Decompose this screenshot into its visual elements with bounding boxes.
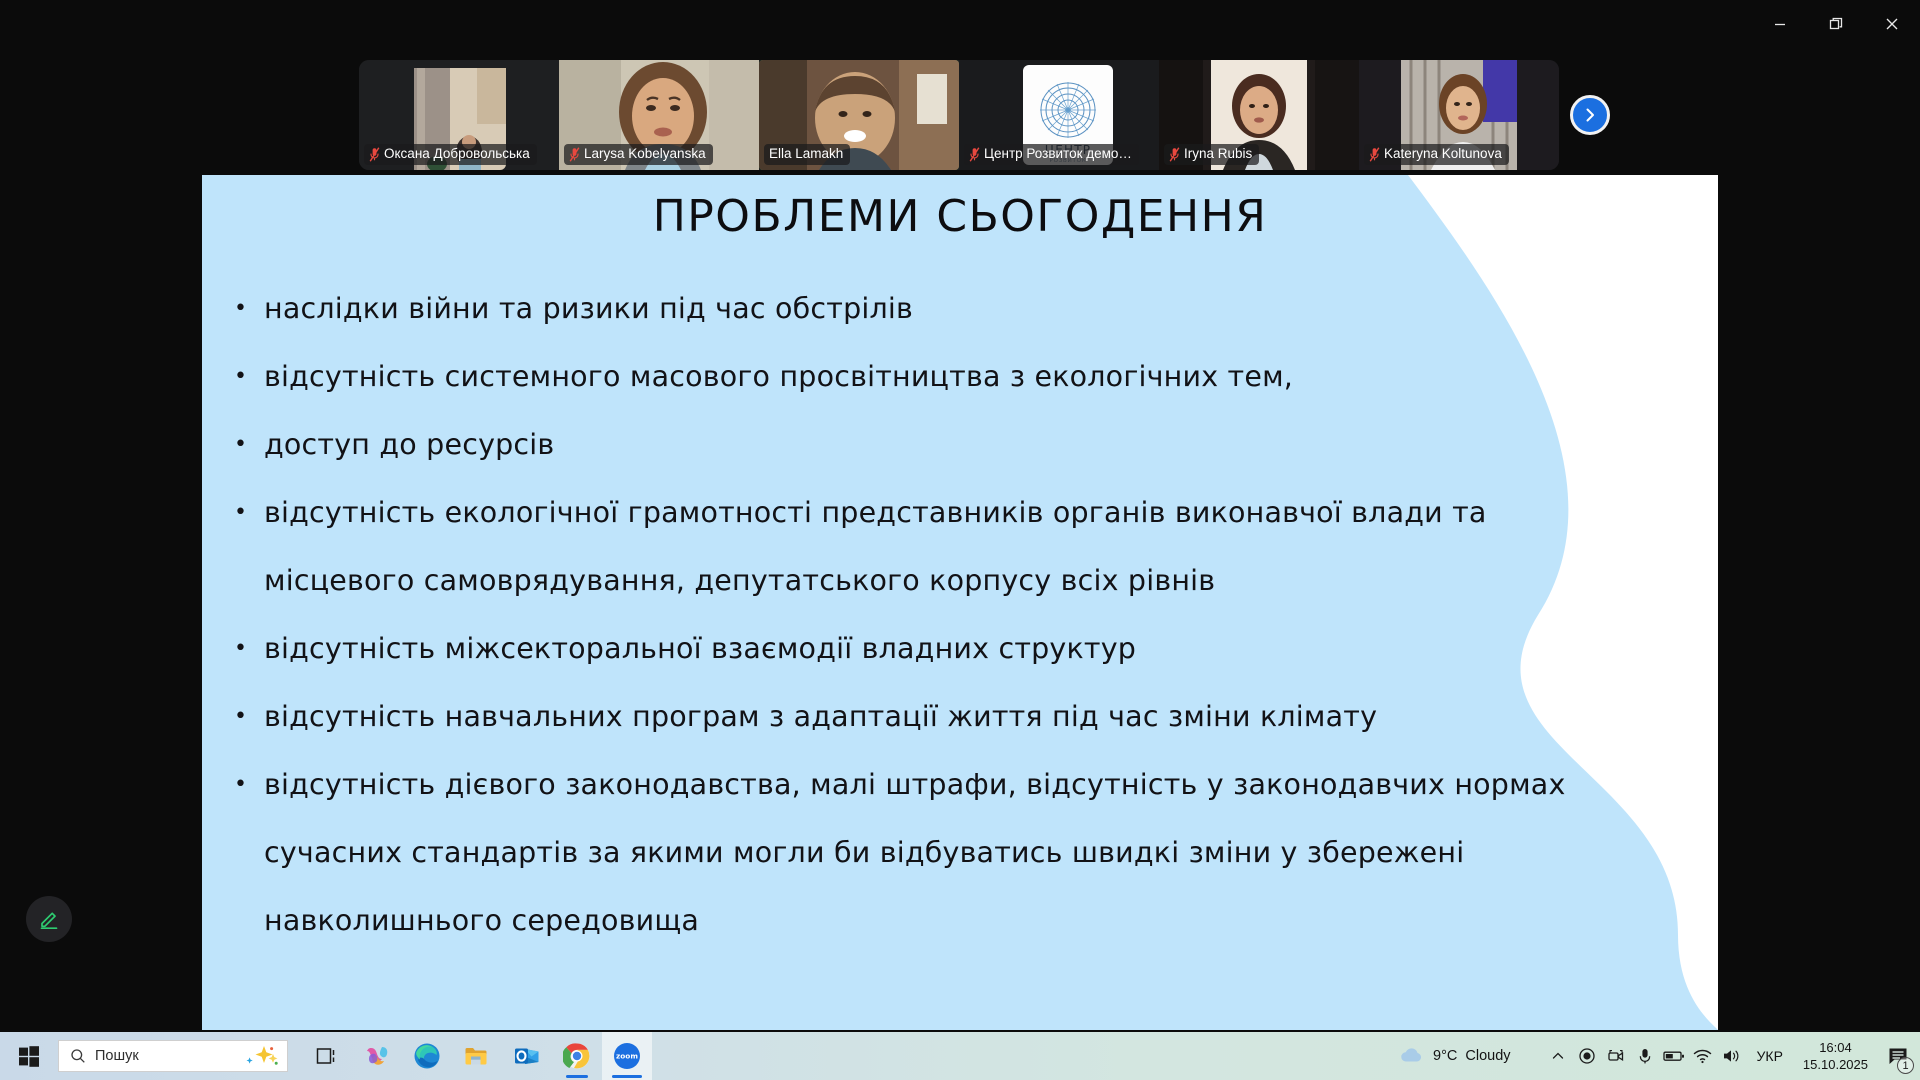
slide-bullet: відсутність міжсекторальної взаємодії вл… <box>212 615 1632 683</box>
participant-tile[interactable]: ЦЕНТР РОЗВИТОК Центр Розвиток демо… <box>959 60 1159 170</box>
start-button[interactable] <box>0 1045 58 1067</box>
mic-off-icon <box>369 147 380 162</box>
chevron-right-icon <box>1582 107 1598 123</box>
weather-temperature: 9°C <box>1433 1048 1457 1064</box>
weather-condition: Cloudy <box>1465 1048 1510 1064</box>
record-icon <box>1578 1047 1596 1065</box>
camera-icon <box>1607 1047 1625 1065</box>
next-participants-button[interactable] <box>1570 95 1610 135</box>
camera-indicator[interactable] <box>1603 1038 1629 1074</box>
folder-icon <box>463 1042 491 1070</box>
participant-name-badge: Ella Lamakh <box>764 144 850 165</box>
participant-tile[interactable]: Kateryna Koltunova <box>1359 60 1559 170</box>
show-hidden-icons-button[interactable] <box>1545 1038 1571 1074</box>
battery-indicator[interactable] <box>1661 1038 1687 1074</box>
edge-button[interactable] <box>402 1032 452 1080</box>
participant-name-badge: Оксана Добровольська <box>364 144 537 165</box>
slide-title: ПРОБЛЕМИ СЬОГОДЕННЯ <box>202 191 1718 242</box>
participant-tile[interactable]: Larysa Kobelyanska <box>559 60 759 170</box>
participant-filmstrip: Оксана Добровольська <box>359 60 1559 170</box>
taskbar: Пошук <box>0 1032 1920 1080</box>
chrome-icon <box>563 1042 591 1070</box>
slide-bullet-list: наслідки війни та ризики під час обстріл… <box>212 275 1718 955</box>
outlook-button[interactable] <box>502 1032 552 1080</box>
participant-name: Kateryna Koltunova <box>1384 146 1502 162</box>
participant-name-badge: Центр Розвиток демо… <box>964 144 1139 165</box>
participant-name-badge: Kateryna Koltunova <box>1364 144 1509 165</box>
pencil-icon <box>37 907 61 931</box>
copilot-sparkle-icon <box>245 1045 279 1067</box>
minimize-button[interactable] <box>1752 4 1808 44</box>
microphone-indicator[interactable] <box>1632 1038 1658 1074</box>
participant-tile-active[interactable]: Ella Lamakh <box>759 60 959 170</box>
wifi-indicator[interactable] <box>1690 1038 1716 1074</box>
slide-bullet: відсутність екологічної грамотності пред… <box>212 479 1632 615</box>
chrome-button[interactable] <box>552 1032 602 1080</box>
participant-name: Larysa Kobelyanska <box>584 146 706 162</box>
slide-bullet: відсутність системного масового просвітн… <box>212 343 1632 411</box>
volume-indicator[interactable] <box>1719 1038 1745 1074</box>
participant-name: Iryna Rubis <box>1184 146 1252 162</box>
mic-off-icon <box>969 147 980 162</box>
restore-button[interactable] <box>1808 4 1864 44</box>
weather-widget[interactable]: 9°C Cloudy <box>1387 1047 1522 1065</box>
slide-bullet: відсутність дієвого законодавства, малі … <box>212 751 1632 955</box>
clock-date: 15.10.2025 <box>1803 1056 1868 1073</box>
battery-icon <box>1663 1049 1685 1063</box>
close-button[interactable] <box>1864 4 1920 44</box>
clock-time: 16:04 <box>1803 1039 1868 1056</box>
cloud-icon <box>1399 1047 1425 1065</box>
mic-off-icon <box>1169 147 1180 162</box>
svg-text:zoom: zoom <box>616 1052 638 1061</box>
participant-tile[interactable]: Оксана Добровольська <box>359 60 559 170</box>
participant-tile[interactable]: Iryna Rubis <box>1159 60 1359 170</box>
participant-name-badge: Larysa Kobelyanska <box>564 144 713 165</box>
clock[interactable]: 16:04 15.10.2025 <box>1795 1039 1876 1073</box>
file-explorer-button[interactable] <box>452 1032 502 1080</box>
copilot-button[interactable] <box>352 1032 402 1080</box>
tray-icons <box>1545 1038 1745 1074</box>
search-placeholder: Пошук <box>95 1048 236 1064</box>
search-input[interactable]: Пошук <box>58 1040 288 1072</box>
search-icon <box>70 1048 86 1064</box>
chevron-up-icon <box>1551 1049 1565 1063</box>
language-indicator[interactable]: УКР <box>1745 1048 1795 1064</box>
taskbar-app-icons: zoom <box>302 1032 652 1080</box>
copilot-icon <box>363 1042 391 1070</box>
participant-name: Оксана Добровольська <box>384 146 530 162</box>
mic-off-icon <box>569 147 580 162</box>
desktop: Оксана Добровольська <box>0 0 1920 1080</box>
task-view-icon <box>315 1044 339 1068</box>
participant-name: Ella Lamakh <box>769 146 843 162</box>
zoom-button[interactable]: zoom <box>602 1032 652 1080</box>
annotate-button[interactable] <box>26 896 72 942</box>
mic-off-icon <box>1369 147 1380 162</box>
edge-icon <box>413 1042 441 1070</box>
participant-name-badge: Iryna Rubis <box>1164 144 1259 165</box>
notification-button[interactable]: 1 <box>1876 1032 1920 1080</box>
presentation-slide: ПРОБЛЕМИ СЬОГОДЕННЯ наслідки війни та ри… <box>202 175 1718 1030</box>
slide-bullet: доступ до ресурсів <box>212 411 1632 479</box>
slide-bullet: наслідки війни та ризики під час обстріл… <box>212 275 1632 343</box>
windows-logo-icon <box>18 1045 40 1067</box>
window-controls <box>1752 0 1920 48</box>
slide-bullet: відсутність навчальних програм з адаптац… <box>212 683 1632 751</box>
notification-count: 1 <box>1897 1057 1914 1074</box>
task-view-button[interactable] <box>302 1032 352 1080</box>
system-tray: 9°C Cloudy <box>1387 1032 1920 1080</box>
zoom-icon: zoom <box>612 1041 642 1071</box>
speaker-icon <box>1722 1048 1742 1064</box>
recording-indicator[interactable] <box>1574 1038 1600 1074</box>
participant-name: Центр Розвиток демо… <box>984 146 1132 162</box>
outlook-icon <box>513 1042 541 1070</box>
wifi-icon <box>1693 1048 1712 1064</box>
microphone-icon <box>1637 1047 1653 1065</box>
